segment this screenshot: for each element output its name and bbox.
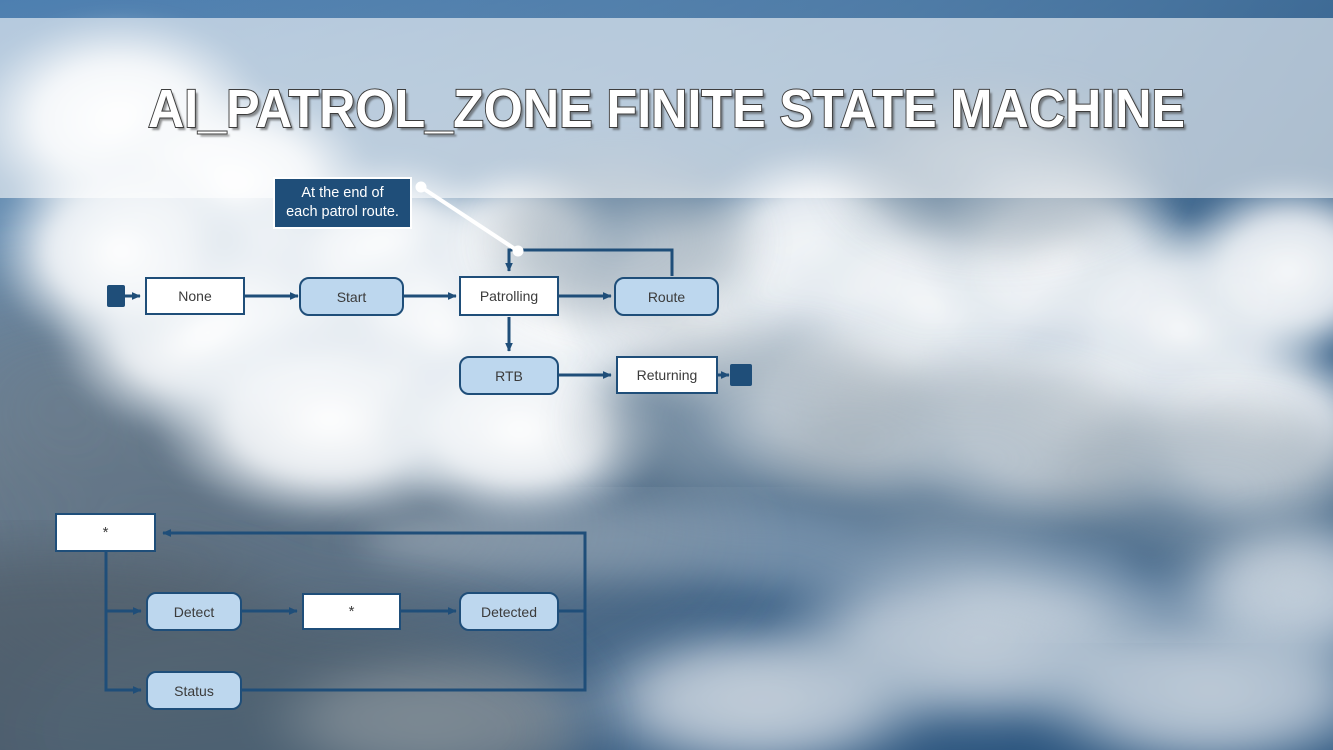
initial-state-marker — [107, 285, 125, 307]
state-label: Detected — [481, 604, 537, 620]
state-label: Detect — [174, 604, 214, 620]
callout-line-2: each patrol route. — [284, 203, 401, 222]
state-label: * — [349, 603, 355, 620]
state-label: Route — [648, 289, 685, 305]
final-state-marker — [730, 364, 752, 386]
state-node-none[interactable]: None — [145, 277, 245, 315]
state-label: * — [103, 524, 109, 541]
callout-line-1: At the end of — [284, 184, 401, 203]
state-node-start[interactable]: Start — [299, 277, 404, 316]
state-label: Status — [174, 683, 214, 699]
state-node-route[interactable]: Route — [614, 277, 719, 316]
state-node-patrolling[interactable]: Patrolling — [459, 276, 559, 316]
state-label: RTB — [495, 368, 523, 384]
state-node-any-mid[interactable]: * — [302, 593, 401, 630]
slide-canvas: AI_PATROL_ZONE FINITE STATE MACHINE — [0, 0, 1333, 750]
state-node-status[interactable]: Status — [146, 671, 242, 710]
callout-box: At the end of each patrol route. — [273, 177, 412, 229]
state-label: Patrolling — [480, 288, 538, 304]
state-node-returning[interactable]: Returning — [616, 356, 718, 394]
state-label: Returning — [637, 367, 698, 383]
state-label: Start — [337, 289, 367, 305]
state-node-detected[interactable]: Detected — [459, 592, 559, 631]
state-label: None — [178, 288, 211, 304]
state-node-rtb[interactable]: RTB — [459, 356, 559, 395]
state-node-detect[interactable]: Detect — [146, 592, 242, 631]
state-node-any-top[interactable]: * — [55, 513, 156, 552]
